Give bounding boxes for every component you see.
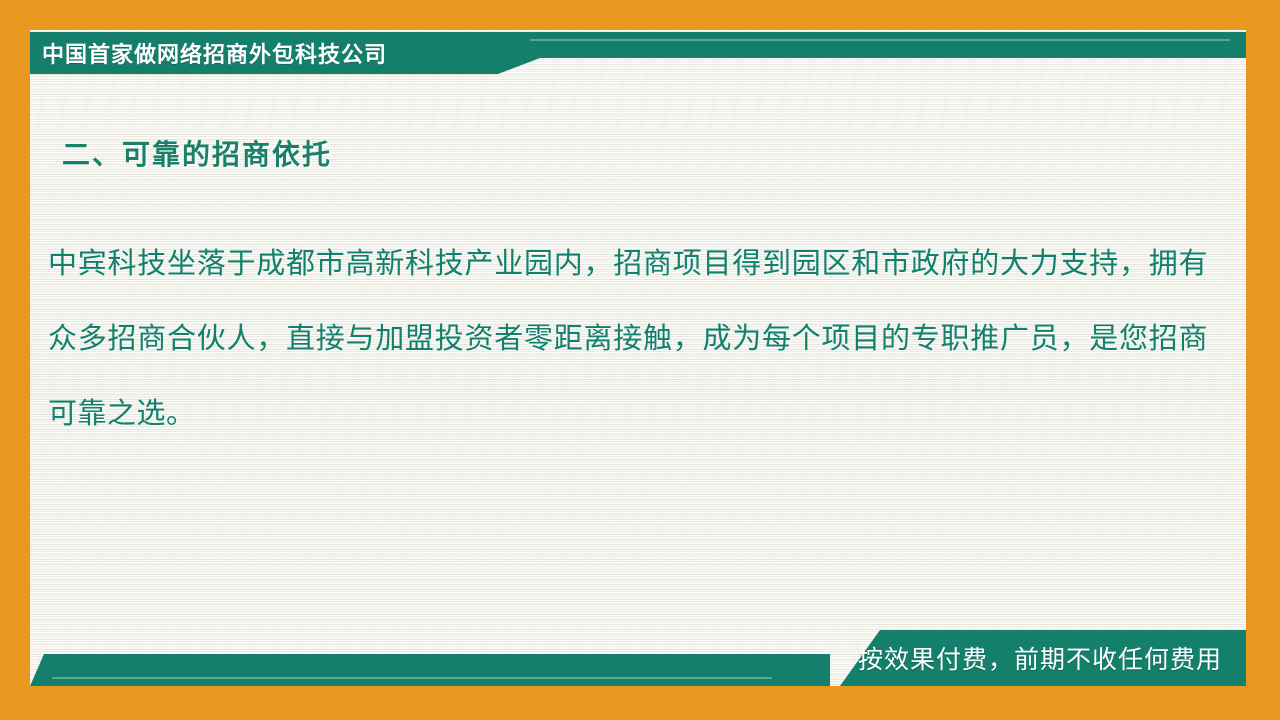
footer-hairline-divider (52, 677, 772, 679)
header-hairline-divider (530, 39, 1230, 41)
header-green-bar (498, 32, 1246, 58)
slide-root: 中国首家做网络招商外包科技公司 二、可靠的招商依托 中宾科技坐落于成都市高新科技… (0, 0, 1280, 720)
header-title: 中国首家做网络招商外包科技公司 (42, 32, 387, 74)
body-paragraph: 中宾科技坐落于成都市高新科技产业园内，招商项目得到园区和市政府的大力支持，拥有众… (48, 226, 1208, 451)
footer-tagline: 按效果付费，前期不收任何费用 (858, 630, 1222, 686)
header-banner: 中国首家做网络招商外包科技公司 (30, 32, 1246, 74)
footer-banner: 按效果付费，前期不收任何费用 (30, 630, 1246, 686)
section-title: 二、可靠的招商依托 (62, 133, 332, 173)
footer-green-bar (30, 654, 830, 686)
slide-content-area: 中国首家做网络招商外包科技公司 二、可靠的招商依托 中宾科技坐落于成都市高新科技… (30, 30, 1246, 686)
